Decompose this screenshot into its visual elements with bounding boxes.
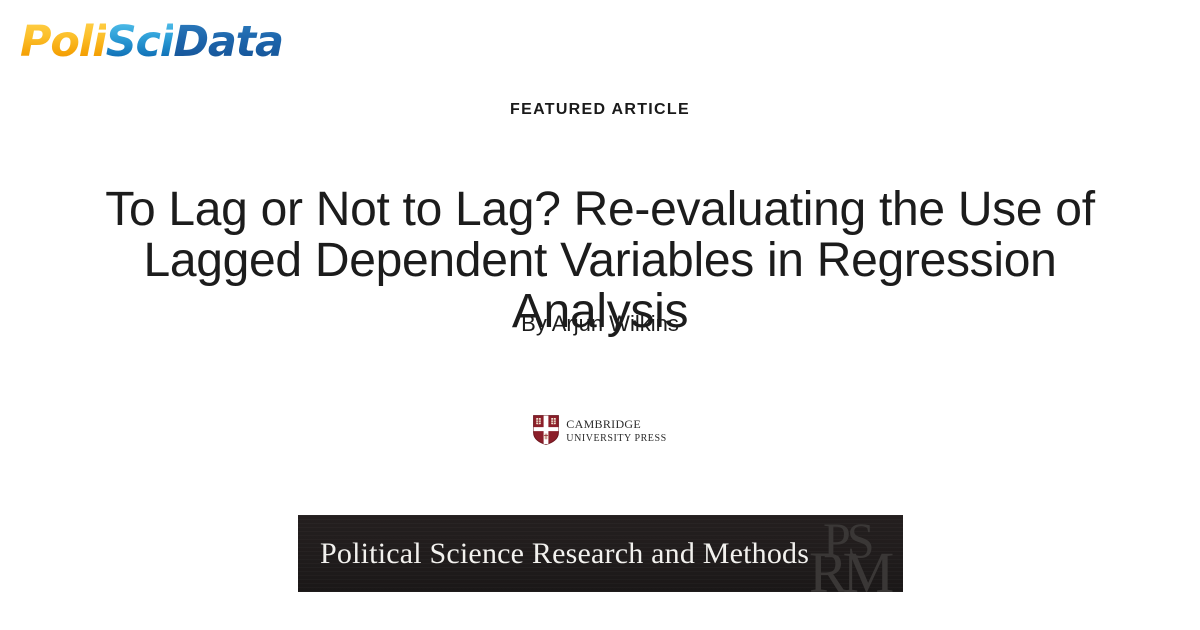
featured-article-card: PoliSciData FEATURED ARTICLE To Lag or N…	[0, 0, 1200, 630]
featured-article-label: FEATURED ARTICLE	[0, 101, 1200, 119]
psrm-monogram-icon: PS RM	[815, 515, 903, 592]
monogram-rm: RM	[809, 544, 889, 592]
publisher-logo: Cambridge University Press	[0, 414, 1200, 445]
journal-banner[interactable]: Political Science Research and Methods P…	[298, 515, 903, 592]
article-byline: By Arjun Wilkins	[0, 311, 1200, 337]
logo-wordmark: PoliSciData	[20, 21, 283, 64]
publisher-subtitle: University Press	[566, 432, 666, 445]
polisciata-logo[interactable]: PoliSciData	[20, 14, 283, 70]
journal-name: Political Science Research and Methods	[320, 537, 809, 571]
logo-text-sci: Sci	[106, 17, 174, 67]
publisher-logo-inner: Cambridge University Press	[533, 414, 666, 445]
logo-text-poli: Poli	[20, 17, 106, 67]
publisher-text: Cambridge University Press	[566, 414, 666, 445]
publisher-name: Cambridge	[566, 414, 666, 431]
cambridge-shield-crest-icon	[533, 415, 559, 445]
logo-text-data: Data	[173, 17, 282, 67]
